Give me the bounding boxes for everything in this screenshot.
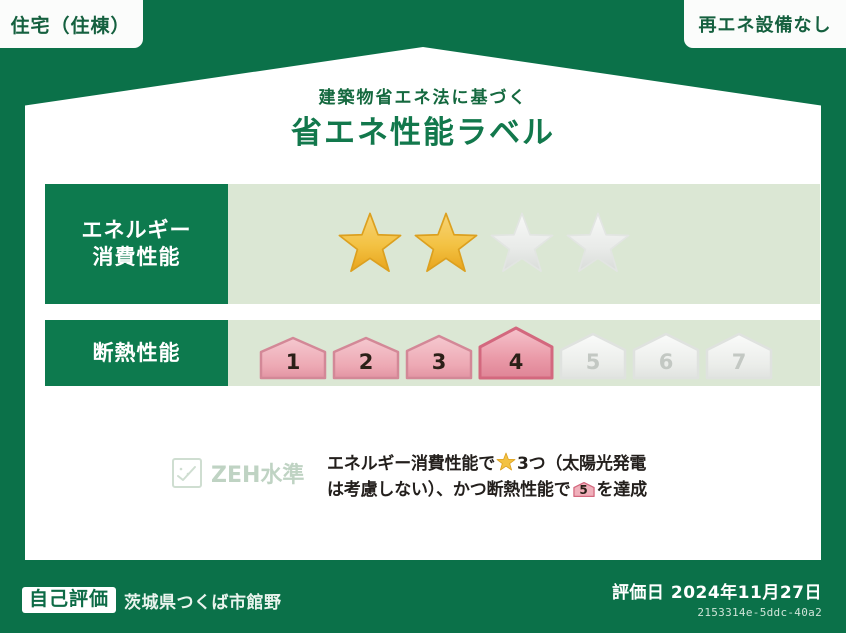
insulation-level-2-number: 2 (331, 350, 401, 374)
star-icon-empty-4 (564, 210, 632, 278)
evaluation-date-value: 2024年11月27日 (671, 583, 822, 603)
star-icon-inline (496, 452, 516, 472)
evaluation-id: 2153314e-5ddc-40a2 (612, 606, 822, 619)
house-icon-inline-number: 5 (573, 481, 595, 500)
star-icon-filled-2 (412, 210, 480, 278)
renewable-energy-tag: 再エネ設備なし (684, 0, 846, 48)
criteria-line2-b: を達成 (597, 480, 647, 500)
label-subtitle: 建築物省エネ法に基づく (0, 83, 846, 108)
zeh-check-glyph (174, 460, 200, 486)
insulation-level-5-number: 5 (558, 350, 628, 374)
insulation-level-3-number: 3 (404, 350, 474, 374)
energy-performance-label: 住宅（住棟） 再エネ設備なし 建築物省エネ法に基づく 省エネ性能ラベル エネルギ… (0, 0, 846, 633)
star-rating (336, 210, 632, 278)
insulation-performance-row: 断熱性能 (45, 320, 820, 386)
insulation-row-label: 断熱性能 (45, 320, 228, 386)
insulation-level-2: 2 (331, 336, 401, 380)
building-type-tag: 住宅（住棟） (0, 0, 143, 48)
insulation-level-4-achieved: 4 (477, 326, 555, 380)
zeh-standard-mark: ZEH水準 (172, 457, 304, 489)
star-icon-filled-1 (336, 210, 404, 278)
property-address: 茨城県つくば市館野 (124, 588, 282, 613)
insulation-level-6-number: 6 (631, 350, 701, 374)
energy-row-content (228, 184, 820, 304)
energy-row-label-line2: 消費性能 (93, 244, 181, 271)
renewable-energy-tag-label: 再エネ設備なし (699, 11, 832, 37)
criteria-line1-b: 3つ（太陽光発電 (517, 454, 646, 474)
evaluation-date: 評価日 2024年11月27日 (612, 578, 822, 603)
footer-left: 自己評価 茨城県つくば市館野 (22, 587, 282, 613)
criteria-line1-a: エネルギー消費性能で (327, 454, 495, 474)
energy-row-label: エネルギー 消費性能 (45, 184, 228, 304)
star-icon-empty-3 (488, 210, 556, 278)
insulation-level-1: 1 (258, 336, 328, 380)
insulation-row-content: 1 2 3 4 (228, 320, 820, 386)
house-icon-inline: 5 (573, 480, 595, 499)
insulation-level-6: 6 (631, 332, 701, 380)
zeh-standard-label: ZEH水準 (211, 457, 304, 489)
zeh-check-icon (172, 458, 202, 488)
footer-right: 評価日 2024年11月27日 2153314e-5ddc-40a2 (612, 578, 822, 619)
energy-row-label-line1: エネルギー (82, 217, 192, 244)
insulation-level-1-number: 1 (258, 350, 328, 374)
criteria-line2-a: は考慮しない）、かつ断熱性能で (327, 480, 571, 500)
insulation-level-3: 3 (404, 334, 474, 380)
insulation-level-4-number: 4 (477, 350, 555, 374)
insulation-row-label-text: 断熱性能 (93, 340, 181, 367)
building-type-tag-label: 住宅（住棟） (10, 11, 130, 38)
insulation-level-7: 7 (704, 332, 774, 380)
insulation-level-5: 5 (558, 332, 628, 380)
criteria-description: エネルギー消費性能で3つ（太陽光発電 は考慮しない）、かつ断熱性能で5を達成 (327, 451, 687, 504)
page-title: 省エネ性能ラベル (0, 107, 846, 152)
insulation-level-7-number: 7 (704, 350, 774, 374)
evaluation-date-label: 評価日 (612, 583, 665, 603)
insulation-level-scale: 1 2 3 4 (258, 326, 774, 380)
self-assessment-badge: 自己評価 (22, 587, 116, 613)
energy-consumption-row: エネルギー 消費性能 (45, 184, 820, 304)
